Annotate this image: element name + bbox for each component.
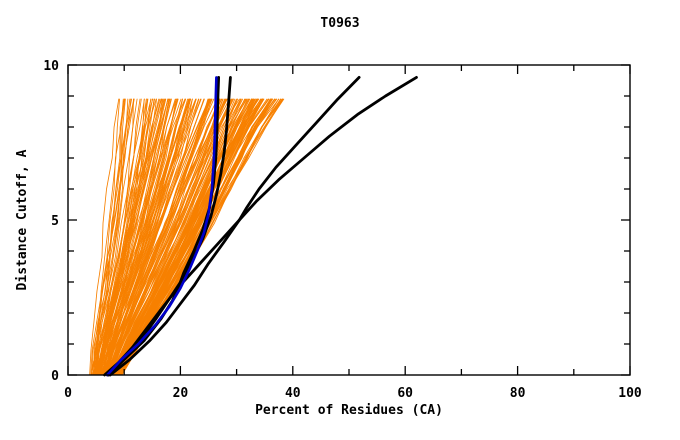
- x-tick-label: 20: [173, 386, 189, 401]
- chart-title: T0963: [320, 16, 359, 31]
- x-tick-label: 0: [64, 386, 72, 401]
- x-axis-label: Percent of Residues (CA): [255, 403, 443, 418]
- x-tick-label: 40: [285, 386, 301, 401]
- y-tick-label: 5: [51, 214, 59, 229]
- distance-cutoff-plot: T0963 0204060801000510 Percent of Residu…: [0, 0, 680, 440]
- x-tick-label: 80: [510, 386, 526, 401]
- y-axis-label: Distance Cutoff, A: [15, 149, 30, 290]
- y-tick-label: 10: [43, 59, 59, 74]
- x-tick-label: 100: [618, 386, 642, 401]
- x-tick-label: 60: [397, 386, 413, 401]
- y-tick-label: 0: [51, 369, 59, 384]
